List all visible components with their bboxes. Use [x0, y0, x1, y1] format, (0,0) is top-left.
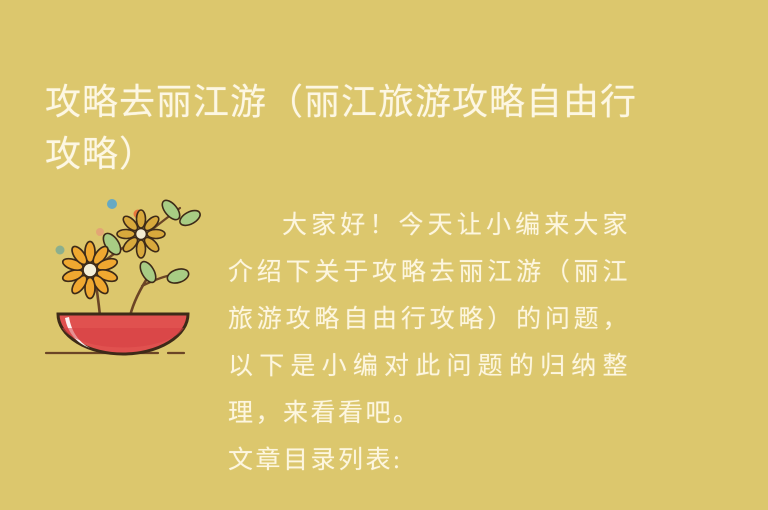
toc-heading: 文章目录列表: [228, 437, 630, 484]
dot-pink-icon [96, 228, 104, 236]
bowl [58, 314, 188, 354]
flower-small [117, 210, 165, 258]
leaf-lower-right [166, 266, 191, 285]
intro-paragraph: 大家好！今天让小编来大家介绍下关于攻略去丽江游（丽江旅游攻略自由行攻略）的问题，… [228, 202, 630, 437]
leaf-lower-left [137, 259, 159, 285]
leaf-top-right [177, 208, 202, 229]
dot-teal-icon [56, 246, 65, 255]
flower-bowl-illustration [38, 188, 238, 368]
article-page: 攻略去丽江游（丽江旅游攻略自由行攻略） [0, 0, 768, 510]
article-body: 大家好！今天让小编来大家介绍下关于攻略去丽江游（丽江旅游攻略自由行攻略）的问题，… [228, 202, 630, 484]
leaf-top-left [159, 197, 183, 222]
page-title: 攻略去丽江游（丽江旅游攻略自由行攻略） [45, 76, 645, 180]
dot-blue-icon [107, 199, 117, 209]
